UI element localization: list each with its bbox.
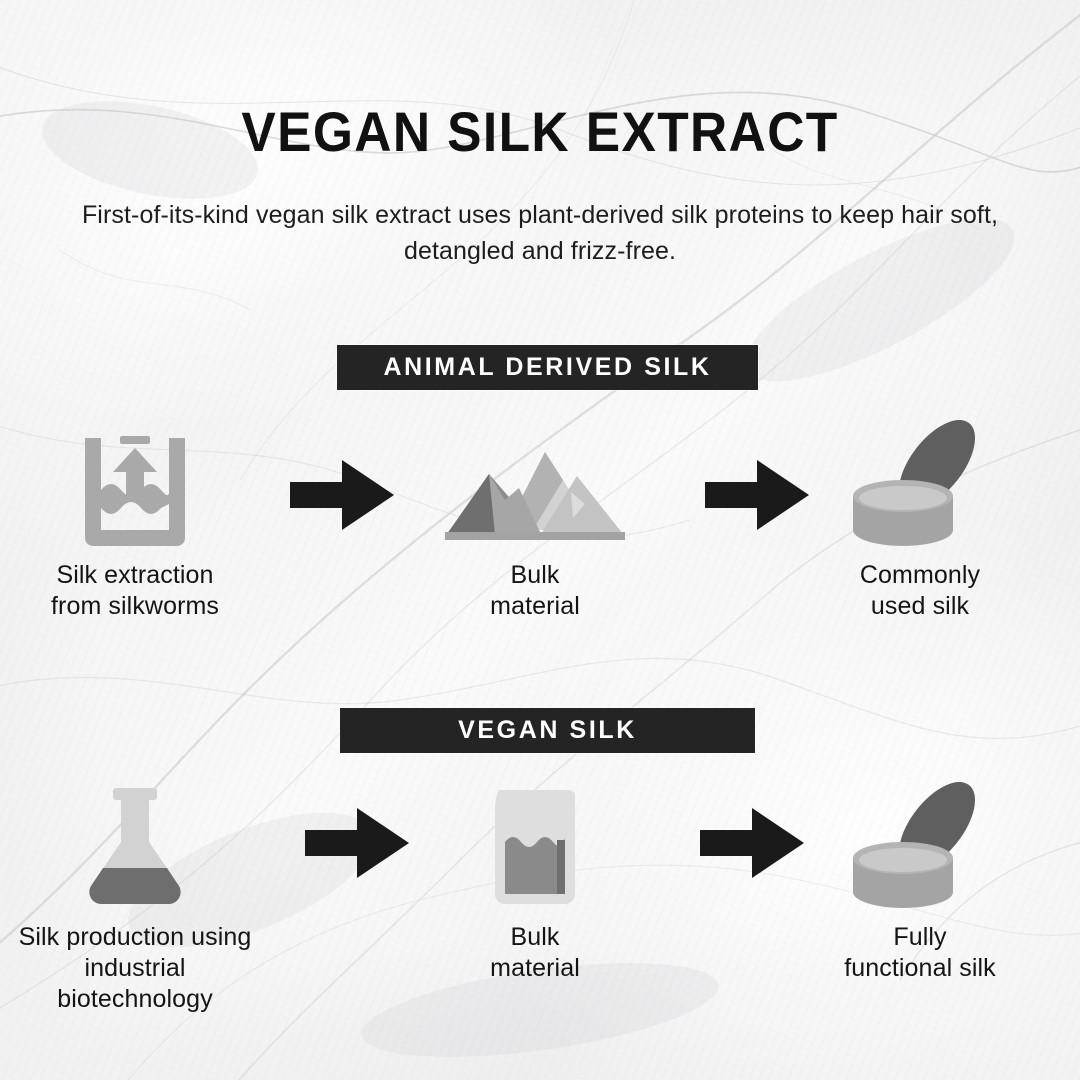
section-steps-animal-derived-silk: Silk extraction from silkworms [0, 418, 1080, 628]
mountain-bulk-material-icon [405, 418, 665, 548]
open-tin-can-icon [790, 418, 1050, 548]
open-tin-can-icon [790, 780, 1050, 910]
section-banner-vegan-silk: VEGAN SILK [340, 708, 755, 753]
arrow-right-icon [290, 460, 394, 530]
step-caption: Silk production using industrial biotech… [5, 922, 265, 1015]
step-bulk-material: Bulk material [405, 780, 665, 984]
step-bulk-material: Bulk material [405, 418, 665, 622]
caption-line-1: Silk extraction [5, 560, 265, 591]
step-caption: Bulk material [405, 560, 665, 622]
silk-extraction-vat-icon [5, 418, 265, 548]
step-caption: Silk extraction from silkworms [5, 560, 265, 622]
beaker-bulk-material-icon [405, 780, 665, 910]
section-banner-animal-derived-silk: ANIMAL DERIVED SILK [337, 345, 758, 390]
page-subtitle: First-of-its-kind vegan silk extract use… [75, 198, 1005, 269]
erlenmeyer-flask-icon [5, 780, 265, 910]
step-caption: Bulk material [405, 922, 665, 984]
arrow-right-icon [305, 808, 409, 878]
caption-line-1: Bulk [405, 560, 665, 591]
step-silk-production: Silk production using industrial biotech… [5, 780, 265, 1015]
step-commonly-used-silk: Commonly used silk [790, 418, 1050, 622]
arrow-right-icon [700, 808, 804, 878]
caption-line-1: Bulk [405, 922, 665, 953]
step-fully-functional-silk: Fully functional silk [790, 780, 1050, 984]
caption-line-2: used silk [790, 591, 1050, 622]
section-steps-vegan-silk: Silk production using industrial biotech… [0, 780, 1080, 990]
caption-line-1: Commonly [790, 560, 1050, 591]
caption-line-2: functional silk [790, 953, 1050, 984]
caption-line-1: Fully [790, 922, 1050, 953]
step-caption: Fully functional silk [790, 922, 1050, 984]
caption-line-2: material [405, 953, 665, 984]
caption-line-2: industrial biotechnology [5, 953, 265, 1015]
infographic-page: VEGAN SILK EXTRACT First-of-its-kind veg… [0, 0, 1080, 1080]
caption-line-2: from silkworms [5, 591, 265, 622]
caption-line-2: material [405, 591, 665, 622]
page-title: VEGAN SILK EXTRACT [43, 104, 1037, 160]
step-silk-extraction: Silk extraction from silkworms [5, 418, 265, 622]
caption-line-1: Silk production using [5, 922, 265, 953]
step-caption: Commonly used silk [790, 560, 1050, 622]
